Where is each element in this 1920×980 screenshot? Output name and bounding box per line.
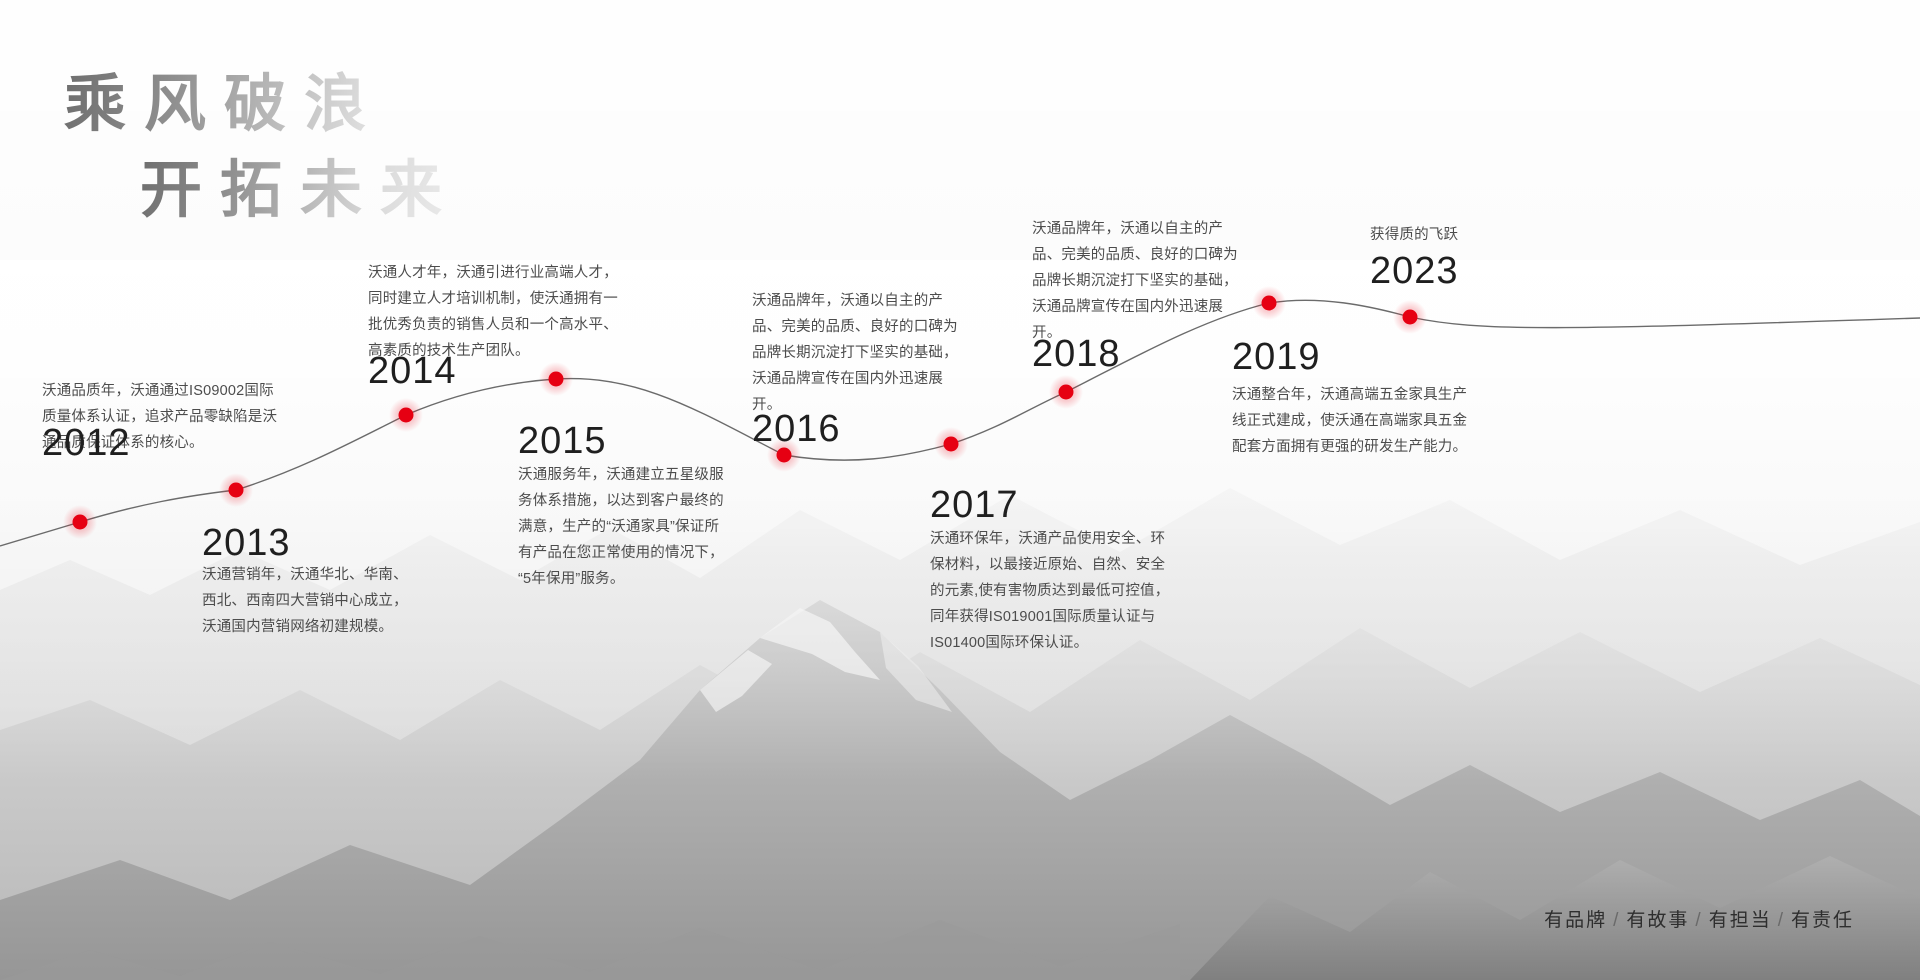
footer-tagline: 有品牌/有故事/有担当/有责任 xyxy=(1544,905,1854,932)
timeline-node-glow xyxy=(1252,286,1286,320)
timeline-node-dot-2014[interactable] xyxy=(399,408,414,423)
timeline-node-glow xyxy=(219,473,253,507)
timeline-description-2018: 沃通品牌年，沃通以自主的产品、完美的品质、良好的口碑为品牌长期沉淀打下坚实的基础… xyxy=(1032,216,1248,346)
timeline-canvas: 乘风破浪 开拓未来 沃通品质年，沃通通过IS09002国际质量体系认证，追求产品… xyxy=(0,0,1920,980)
timeline-node-glow xyxy=(1049,375,1083,409)
timeline-description-2019: 沃通整合年，沃通高端五金家具生产线正式建成，使沃通在高端家具五金配套方面拥有更强… xyxy=(1232,382,1472,460)
timeline-year-label-2015: 2015 xyxy=(518,418,730,464)
footer-item-2: 有担当 xyxy=(1709,910,1772,931)
timeline-year-label-2018: 2018 xyxy=(1032,331,1248,377)
timeline-year-label-2023: 2023 xyxy=(1370,248,1530,294)
timeline-entry-2019: 2019沃通整合年，沃通高端五金家具生产线正式建成，使沃通在高端家具五金配套方面… xyxy=(1232,334,1472,460)
timeline-node-glow xyxy=(1393,300,1427,334)
timeline-year-label-2019: 2019 xyxy=(1232,334,1472,380)
timeline-description-2023: 获得质的飞跃 xyxy=(1370,222,1530,248)
timeline-entry-2018: 沃通品牌年，沃通以自主的产品、完美的品质、良好的口碑为品牌长期沉淀打下坚实的基础… xyxy=(1032,216,1248,377)
timeline-entry-2013: 2013沃通营销年，沃通华北、华南、西北、西南四大营销中心成立，沃通国内营销网络… xyxy=(202,520,412,640)
timeline-entry-2015: 2015沃通服务年，沃通建立五星级服务体系措施，以达到客户最终的满意，生产的“沃… xyxy=(518,418,730,592)
timeline-entry-2016: 沃通品牌年，沃通以自主的产品、完美的品质、良好的口碑为品牌长期沉淀打下坚实的基础… xyxy=(752,288,966,452)
title-line-secondary: 开拓未来 xyxy=(140,152,460,230)
timeline-entry-2023: 获得质的飞跃2023 xyxy=(1370,222,1530,294)
footer-separator: / xyxy=(1695,910,1702,931)
page-title: 乘风破浪 开拓未来 xyxy=(64,66,460,230)
title-line-primary: 乘风破浪 xyxy=(64,66,460,144)
timeline-node-dot-2023[interactable] xyxy=(1403,310,1418,325)
timeline-entry-2017: 2017沃通环保年，沃通产品使用安全、环保材料，以最接近原始、自然、安全的元素,… xyxy=(930,482,1178,656)
footer-separator: / xyxy=(1613,910,1620,931)
timeline-description-2015: 沃通服务年，沃通建立五星级服务体系措施，以达到客户最终的满意，生产的“沃通家具”… xyxy=(518,462,730,592)
timeline-node-glow xyxy=(389,398,423,432)
timeline-description-2016: 沃通品牌年，沃通以自主的产品、完美的品质、良好的口碑为品牌长期沉淀打下坚实的基础… xyxy=(752,288,966,418)
timeline-node-dot-2019[interactable] xyxy=(1262,296,1277,311)
timeline-node-dot-2018[interactable] xyxy=(1059,385,1074,400)
timeline-year-label-2017: 2017 xyxy=(930,482,1178,528)
footer-item-1: 有故事 xyxy=(1626,910,1689,931)
timeline-entry-2014: 沃通人才年，沃通引进行业高端人才，同时建立人才培训机制，使沃通拥有一批优秀负责的… xyxy=(368,260,624,394)
timeline-node-dot-2012[interactable] xyxy=(73,515,88,530)
timeline-year-label-2013: 2013 xyxy=(202,520,412,566)
footer-item-0: 有品牌 xyxy=(1544,910,1607,931)
timeline-node-glow xyxy=(63,505,97,539)
timeline-description-2013: 沃通营销年，沃通华北、华南、西北、西南四大营销中心成立，沃通国内营销网络初建规模… xyxy=(202,562,412,640)
timeline-entry-2012: 沃通品质年，沃通通过IS09002国际质量体系认证，追求产品零缺陷是沃通品质保证… xyxy=(42,378,278,466)
timeline-year-label-2016: 2016 xyxy=(752,406,966,452)
footer-item-3: 有责任 xyxy=(1791,910,1854,931)
timeline-description-2017: 沃通环保年，沃通产品使用安全、环保材料，以最接近原始、自然、安全的元素,使有害物… xyxy=(930,526,1178,656)
timeline-node-dot-2013[interactable] xyxy=(229,483,244,498)
footer-separator: / xyxy=(1778,910,1785,931)
